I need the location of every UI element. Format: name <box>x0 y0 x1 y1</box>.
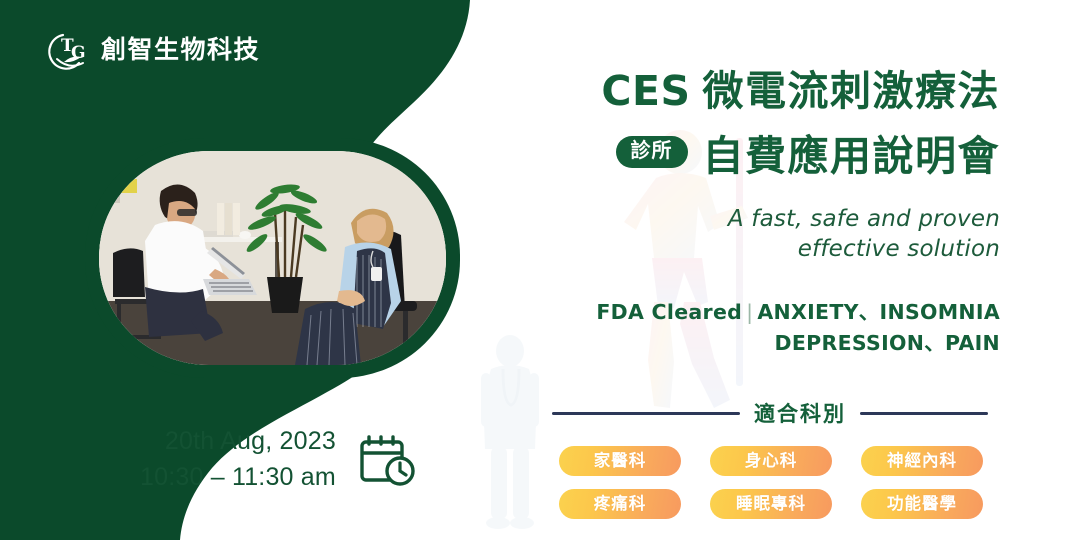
indications-separator: | <box>742 300 757 324</box>
indications-block: FDA Cleared|ANXIETY、INSOMNIA DEPRESSION、… <box>530 297 1000 361</box>
fda-cleared-label: FDA Cleared <box>596 300 742 324</box>
hero-photo-frame <box>85 138 460 378</box>
headline-line1-cn: 微電流刺激療法 <box>703 57 1001 117</box>
indications-line-1: FDA Cleared|ANXIETY、INSOMNIA <box>530 297 1000 329</box>
specialties-heading-row: 適合科別 <box>530 398 1000 428</box>
specialty-pill[interactable]: 神經內科 <box>861 446 983 476</box>
event-date: 20th Aug, 2023 <box>140 424 336 460</box>
tagline: A fast, safe and proven effective soluti… <box>530 204 1000 265</box>
specialties-heading: 適合科別 <box>754 398 846 428</box>
specialty-pill[interactable]: 功能醫學 <box>861 489 983 519</box>
tg-monogram-icon: T G <box>46 27 92 73</box>
indications-text-1: ANXIETY、INSOMNIA <box>757 300 1000 324</box>
specialty-pill[interactable]: 家醫科 <box>559 446 681 476</box>
tagline-line-2: effective solution <box>530 234 1000 264</box>
headline-line-1: CES 微電流刺激療法 <box>530 57 1000 117</box>
specialty-pill[interactable]: 睡眠專科 <box>710 489 832 519</box>
event-time: 10:30 – 11:30 am <box>140 460 336 496</box>
calendar-clock-icon <box>358 432 416 488</box>
divider-line-right <box>860 412 988 415</box>
right-content-column: CES 微電流刺激療法 診所 自費應用說明會 A fast, safe and … <box>530 0 1000 540</box>
promo-banner: T G 創智生物科技 <box>0 0 1080 540</box>
event-datetime: 20th Aug, 2023 10:30 – 11:30 am <box>140 424 416 495</box>
tagline-line-1: A fast, safe and proven <box>530 204 1000 234</box>
svg-text:G: G <box>71 43 86 63</box>
specialty-pill[interactable]: 疼痛科 <box>559 489 681 519</box>
divider-line-left <box>552 412 740 415</box>
headline-prefix: CES <box>601 67 690 115</box>
clinic-badge: 診所 <box>616 136 688 168</box>
brand-name: 創智生物科技 <box>101 38 260 63</box>
specialties-grid: 家醫科 身心科 神經內科 疼痛科 睡眠專科 功能醫學 <box>530 446 1000 519</box>
headline-line2-cn: 自費應用說明會 <box>703 122 1001 182</box>
headline-line-2: 診所 自費應用說明會 <box>530 122 1000 182</box>
hero-photo <box>99 151 446 365</box>
indications-line-2: DEPRESSION、PAIN <box>530 328 1000 360</box>
brand-logo[interactable]: T G 創智生物科技 <box>46 27 260 73</box>
specialty-pill[interactable]: 身心科 <box>710 446 832 476</box>
